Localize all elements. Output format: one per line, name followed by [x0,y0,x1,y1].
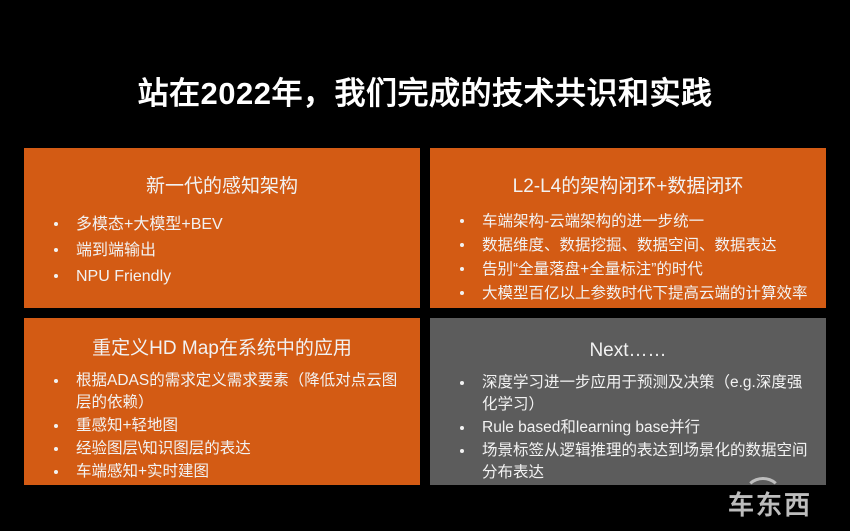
panel-heading-l2-l4-closed-loop: L2-L4的架构闭环+数据闭环 [430,148,826,200]
bullet-list-next-steps: 深度学习进一步应用于预测及决策（e.g.深度强化学习） Rule based和l… [430,364,826,484]
list-item: 多模态+大模型+BEV [50,212,406,237]
panel-perception-architecture: 新一代的感知架构 多模态+大模型+BEV 端到端输出 NPU Friendly [24,148,420,308]
panel-hd-map-redefinition: 重定义HD Map在系统中的应用 根据ADAS的需求定义需求要素（降低对点云图层… [24,318,420,485]
list-item: 端到端输出 [50,238,406,263]
panel-heading-perception-architecture: 新一代的感知架构 [24,148,420,200]
page-title: 站在2022年，我们完成的技术共识和实践 [0,74,850,114]
list-item: 车端感知+实时建图 [50,461,410,483]
panel-heading-next-steps: Next…… [430,318,826,364]
panel-heading-hd-map-redefinition: 重定义HD Map在系统中的应用 [24,318,420,362]
watermark-label: 车东西 [704,491,836,521]
presentation-slide: 站在2022年，我们完成的技术共识和实践 新一代的感知架构 多模态+大模型+BE… [0,0,850,531]
panel-l2-l4-closed-loop: L2-L4的架构闭环+数据闭环 车端架构-云端架构的进一步统一 数据维度、数据挖… [430,148,826,308]
watermark-logo: 车东西 [704,477,836,523]
list-item: 告别“全量落盘+全量标注”的时代 [456,258,812,281]
bullet-list-l2-l4-closed-loop: 车端架构-云端架构的进一步统一 数据维度、数据挖掘、数据空间、数据表达 告别“全… [430,200,826,305]
list-item: 根据ADAS的需求定义需求要素（降低对点云图层的依赖） [50,370,410,414]
list-item: 深度学习进一步应用于预测及决策（e.g.深度强化学习） [456,372,816,416]
bullet-list-perception-architecture: 多模态+大模型+BEV 端到端输出 NPU Friendly [24,200,420,289]
list-item: 重感知+轻地图 [50,415,410,437]
list-item: 车端架构-云端架构的进一步统一 [456,210,812,233]
list-item: 数据维度、数据挖掘、数据空间、数据表达 [456,234,812,257]
list-item: 经验图层\知识图层的表达 [50,438,410,460]
panel-next-steps: Next…… 深度学习进一步应用于预测及决策（e.g.深度强化学习） Rule … [430,318,826,485]
list-item: 大模型百亿以上参数时代下提高云端的计算效率 [456,282,812,305]
bullet-list-hd-map-redefinition: 根据ADAS的需求定义需求要素（降低对点云图层的依赖） 重感知+轻地图 经验图层… [24,362,420,483]
list-item: NPU Friendly [50,264,406,289]
list-item: Rule based和learning base并行 [456,417,816,439]
